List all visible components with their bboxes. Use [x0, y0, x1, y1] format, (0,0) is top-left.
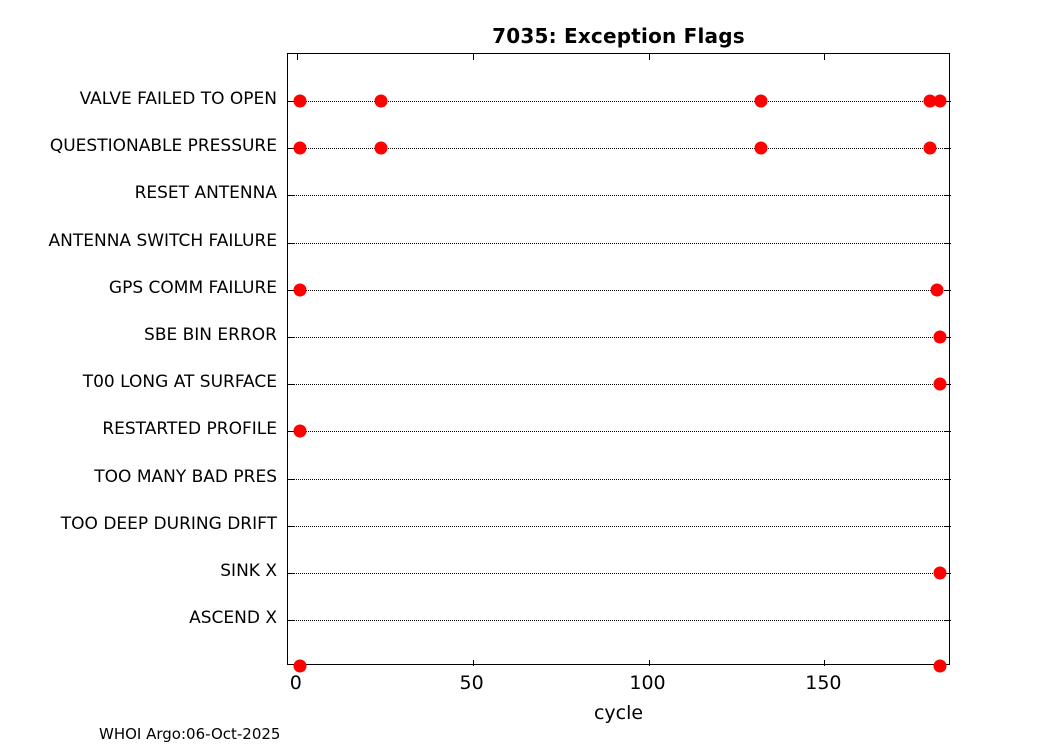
- data-point-marker: [294, 142, 307, 155]
- y-axis-tick-mark: [945, 195, 951, 196]
- x-axis-tick-mark: [473, 54, 474, 60]
- y-axis-tick-label-3: ANTENNA SWITCH FAILURE: [0, 233, 277, 250]
- plot-area: [287, 53, 950, 665]
- data-point-marker: [294, 283, 307, 296]
- chart-title: 7035: Exception Flags: [287, 25, 950, 47]
- exception-flags-figure: 7035: Exception Flags VALVE FAILED TO OP…: [0, 0, 1050, 750]
- plot-inner: [288, 54, 949, 664]
- y-axis-tick-mark: [945, 290, 951, 291]
- gridline-row: [288, 431, 949, 432]
- y-axis-tick-mark: [945, 148, 951, 149]
- y-axis-tick-label-11: ASCEND X: [0, 610, 277, 627]
- y-axis-tick-mark: [945, 479, 951, 480]
- y-axis-tick-mark: [288, 243, 294, 244]
- y-axis-tick-label-9: TOO DEEP DURING DRIFT: [0, 516, 277, 533]
- gridline-row: [288, 243, 949, 244]
- data-point-marker: [755, 142, 768, 155]
- y-axis-tick-mark: [288, 479, 294, 480]
- gridline-row: [288, 479, 949, 480]
- x-axis-tick-label-2: 100: [629, 673, 665, 694]
- data-point-marker: [294, 660, 307, 673]
- y-axis-tick-label-8: TOO MANY BAD PRES: [0, 469, 277, 486]
- y-axis-tick-mark: [288, 384, 294, 385]
- gridline-row: [288, 384, 949, 385]
- x-axis-tick-mark: [824, 660, 825, 666]
- y-axis-tick-label-10: SINK X: [0, 563, 277, 580]
- y-axis-tick-mark: [945, 243, 951, 244]
- y-axis-tick-mark: [288, 573, 294, 574]
- data-point-marker: [294, 425, 307, 438]
- x-axis-tick-label-1: 50: [460, 673, 484, 694]
- gridline-row: [288, 620, 949, 621]
- data-point-marker: [934, 660, 947, 673]
- data-point-marker: [755, 95, 768, 108]
- data-point-marker: [375, 142, 388, 155]
- y-axis-tick-label-2: RESET ANTENNA: [0, 185, 277, 202]
- y-axis-tick-mark: [288, 195, 294, 196]
- x-axis-tick-label-0: 0: [290, 673, 302, 694]
- y-axis-tick-mark: [945, 620, 951, 621]
- gridline-row: [288, 337, 949, 338]
- y-axis-tick-mark: [288, 337, 294, 338]
- x-axis-label: cycle: [287, 703, 950, 724]
- gridline-row: [288, 573, 949, 574]
- gridline-row: [288, 290, 949, 291]
- data-point-marker: [934, 567, 947, 580]
- data-point-marker: [375, 95, 388, 108]
- y-axis-tick-mark: [288, 620, 294, 621]
- x-axis-tick-mark: [297, 54, 298, 60]
- x-axis-tick-mark: [473, 660, 474, 666]
- y-axis-tick-mark: [945, 526, 951, 527]
- y-axis-tick-label-7: RESTARTED PROFILE: [0, 421, 277, 438]
- data-point-marker: [930, 283, 943, 296]
- y-axis-tick-label-6: T00 LONG AT SURFACE: [0, 374, 277, 391]
- y-axis-tick-label-1: QUESTIONABLE PRESSURE: [0, 138, 277, 155]
- x-axis-tick-mark: [649, 660, 650, 666]
- x-axis-tick-label-3: 150: [805, 673, 841, 694]
- gridline-row: [288, 195, 949, 196]
- data-point-marker: [923, 142, 936, 155]
- data-point-marker: [934, 331, 947, 344]
- y-axis-tick-mark: [288, 526, 294, 527]
- data-point-marker: [934, 95, 947, 108]
- y-axis-tick-label-0: VALVE FAILED TO OPEN: [0, 91, 277, 108]
- y-axis-tick-label-5: SBE BIN ERROR: [0, 327, 277, 344]
- x-axis-tick-mark: [824, 54, 825, 60]
- x-axis-tick-mark: [649, 54, 650, 60]
- data-point-marker: [934, 378, 947, 391]
- y-axis-tick-mark: [945, 431, 951, 432]
- data-point-marker: [294, 95, 307, 108]
- footer-attribution: WHOI Argo:06-Oct-2025: [99, 726, 280, 743]
- gridline-row: [288, 526, 949, 527]
- y-axis-tick-label-4: GPS COMM FAILURE: [0, 280, 277, 297]
